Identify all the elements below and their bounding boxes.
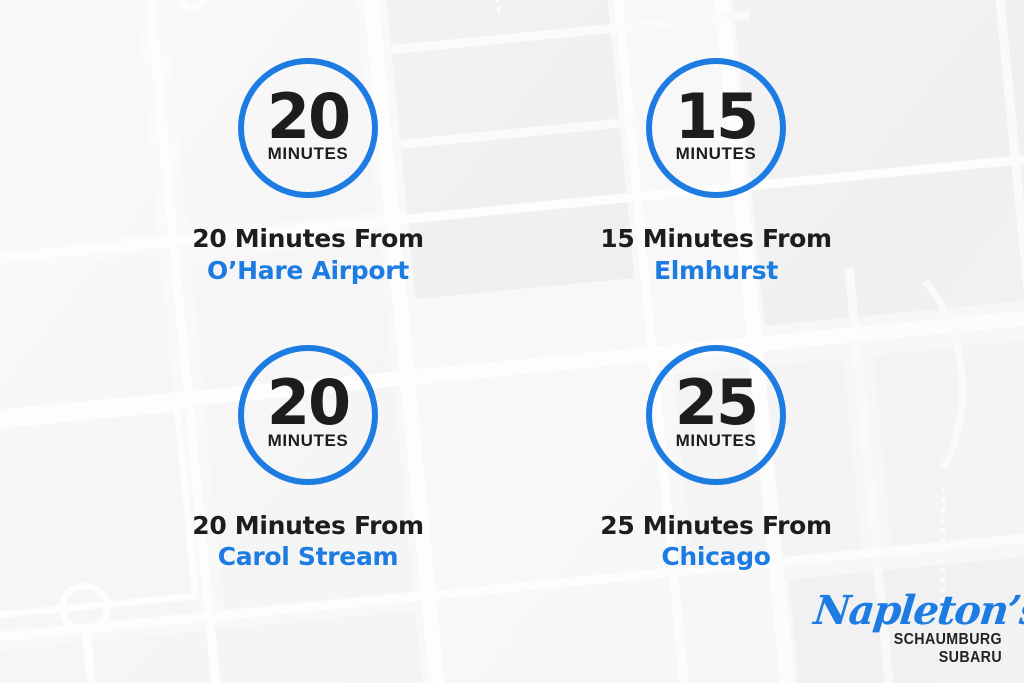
caption-line-2: Elmhurst: [600, 256, 832, 286]
promo-graphic: 20 MINUTES 20 Minutes From O’Hare Airpor…: [0, 0, 1024, 683]
caption-line-2: Carol Stream: [192, 542, 424, 572]
badge-caption: 20 Minutes From O’Hare Airport: [192, 224, 424, 285]
logo-subtitle: SCHAUMBURG SUBARU: [829, 631, 1002, 667]
circle-ring-icon: 15 MINUTES: [646, 58, 786, 198]
caption-line-1: 20 Minutes From: [192, 224, 424, 254]
caption-line-1: 15 Minutes From: [600, 224, 832, 254]
badge-caption: 15 Minutes From Elmhurst: [600, 224, 832, 285]
badge-number: 15: [675, 90, 757, 143]
badge-unit: MINUTES: [268, 432, 349, 449]
circle-ring-icon: 20 MINUTES: [238, 58, 378, 198]
badge-unit: MINUTES: [268, 145, 349, 162]
logo-wordmark: Napleton’s: [812, 591, 1004, 630]
badge-card-carol-stream: 20 MINUTES 20 Minutes From Carol Stream: [104, 345, 512, 632]
badge-card-ohare: 20 MINUTES 20 Minutes From O’Hare Airpor…: [104, 58, 512, 345]
caption-line-1: 20 Minutes From: [192, 511, 424, 541]
badge-number: 25: [675, 376, 757, 429]
badge-unit: MINUTES: [676, 432, 757, 449]
badge-number: 20: [267, 376, 349, 429]
caption-line-1: 25 Minutes From: [600, 511, 832, 541]
badge-number: 20: [267, 90, 349, 143]
circle-ring-icon: 25 MINUTES: [646, 345, 786, 485]
caption-line-2: Chicago: [600, 542, 832, 572]
caption-line-2: O’Hare Airport: [192, 256, 424, 286]
badge-caption: 25 Minutes From Chicago: [600, 511, 832, 572]
badge-caption: 20 Minutes From Carol Stream: [192, 511, 424, 572]
dealership-logo: Napleton’s SCHAUMBURG SUBARU: [814, 591, 1002, 667]
badge-card-elmhurst: 15 MINUTES 15 Minutes From Elmhurst: [512, 58, 920, 345]
badge-grid: 20 MINUTES 20 Minutes From O’Hare Airpor…: [0, 0, 1024, 683]
badge-unit: MINUTES: [676, 145, 757, 162]
circle-ring-icon: 20 MINUTES: [238, 345, 378, 485]
